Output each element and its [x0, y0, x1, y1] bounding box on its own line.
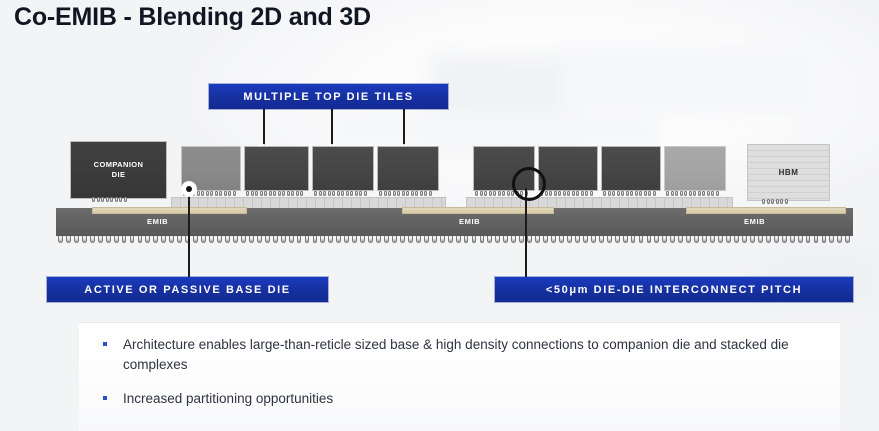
hbm-stack-block: HBM — [747, 144, 830, 201]
companion-die-label-line1: COMPANION — [94, 160, 144, 169]
package-cross-section-diagram: COMPANION DIE — [0, 130, 879, 255]
banner-top-label: MULTIPLE TOP DIE TILES — [243, 91, 413, 103]
top-die-tile-l2 — [244, 146, 309, 191]
callout-circle-pitch — [512, 167, 546, 201]
companion-die-block: COMPANION DIE — [70, 141, 167, 199]
emib-label-2: EMIB — [459, 217, 480, 226]
banner-multiple-top-die-tiles: MULTIPLE TOP DIE TILES — [209, 84, 448, 109]
companion-die-label-line2: DIE — [112, 170, 126, 179]
emib-bridge-3 — [686, 207, 846, 214]
banner-pitch-label: <50μm DIE-DIE INTERCONNECT PITCH — [546, 284, 802, 296]
hbm-label: HBM — [779, 168, 799, 177]
bullet-marker-icon — [103, 342, 107, 346]
list-item: Increased partitioning opportunities — [103, 389, 333, 409]
emib-label-3: EMIB — [744, 217, 765, 226]
bullet-marker-icon — [103, 396, 107, 400]
top-die-tile-l4 — [377, 146, 439, 191]
emib-bridge-2 — [402, 207, 554, 214]
top-die-tile-l3 — [312, 146, 374, 191]
banner-die-die-interconnect-pitch: <50μm DIE-DIE INTERCONNECT PITCH — [495, 277, 853, 302]
slide-canvas: Co-EMIB - Blending 2D and 3D MULTIPLE TO… — [0, 0, 879, 431]
top-die-tile-r2 — [538, 146, 598, 191]
leader-line-base-die — [188, 186, 190, 277]
bullet-text-1: Increased partitioning opportunities — [123, 389, 333, 409]
solder-ball-row — [58, 236, 853, 243]
emib-bridge-1 — [92, 207, 247, 214]
bullet-text-0: Architecture enables large-than-reticle … — [123, 335, 823, 374]
leader-line-pitch — [525, 188, 527, 277]
callout-dot-base-die — [182, 182, 196, 196]
banner-active-or-passive-base-die: ACTIVE OR PASSIVE BASE DIE — [47, 277, 328, 302]
list-item: Architecture enables large-than-reticle … — [103, 335, 823, 374]
page-title: Co-EMIB - Blending 2D and 3D — [14, 3, 371, 32]
bullets-panel: Architecture enables large-than-reticle … — [79, 322, 840, 431]
top-die-tile-r4 — [664, 146, 726, 191]
hbm-microbumps — [762, 199, 789, 205]
banner-base-label: ACTIVE OR PASSIVE BASE DIE — [84, 284, 290, 296]
package-substrate: EMIB EMIB EMIB — [56, 208, 853, 236]
companion-die-microbumps — [92, 197, 128, 203]
emib-label-1: EMIB — [147, 217, 168, 226]
top-die-tile-r3 — [601, 146, 661, 191]
background-shape — [560, 45, 820, 115]
